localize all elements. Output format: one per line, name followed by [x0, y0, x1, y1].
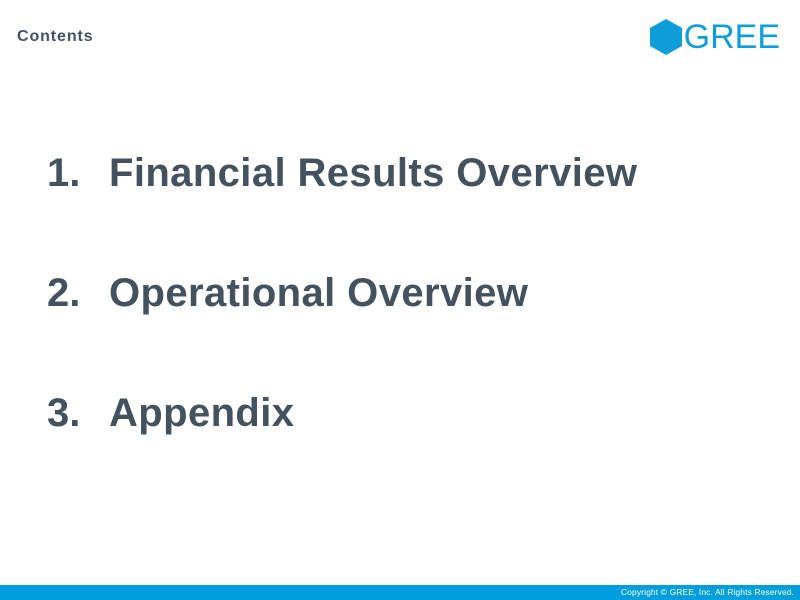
- logo-wordmark: GREE: [684, 20, 780, 54]
- list-item[interactable]: 1. Financial Results Overview: [47, 153, 787, 273]
- list-item-label: Appendix: [109, 393, 294, 433]
- hexagon-icon: [650, 19, 682, 55]
- copyright-notice: Copyright © GREE, Inc. All Rights Reserv…: [621, 587, 794, 598]
- list-item-label: Financial Results Overview: [109, 153, 637, 193]
- list-item[interactable]: 3. Appendix: [47, 393, 787, 513]
- page-title: Contents: [17, 29, 94, 45]
- list-item-number: 3.: [47, 393, 109, 433]
- list-item-number: 2.: [47, 273, 109, 313]
- agenda-list: 1. Financial Results Overview 2. Operati…: [47, 153, 787, 513]
- slide-footer: Copyright © GREE, Inc. All Rights Reserv…: [0, 585, 800, 600]
- gree-logo: GREE: [650, 17, 780, 57]
- list-item-label: Operational Overview: [109, 273, 528, 313]
- presentation-slide: Contents GREE 1. Financial Results Overv…: [0, 0, 800, 600]
- list-item[interactable]: 2. Operational Overview: [47, 273, 787, 393]
- slide-header: Contents GREE: [0, 0, 800, 72]
- list-item-number: 1.: [47, 153, 109, 193]
